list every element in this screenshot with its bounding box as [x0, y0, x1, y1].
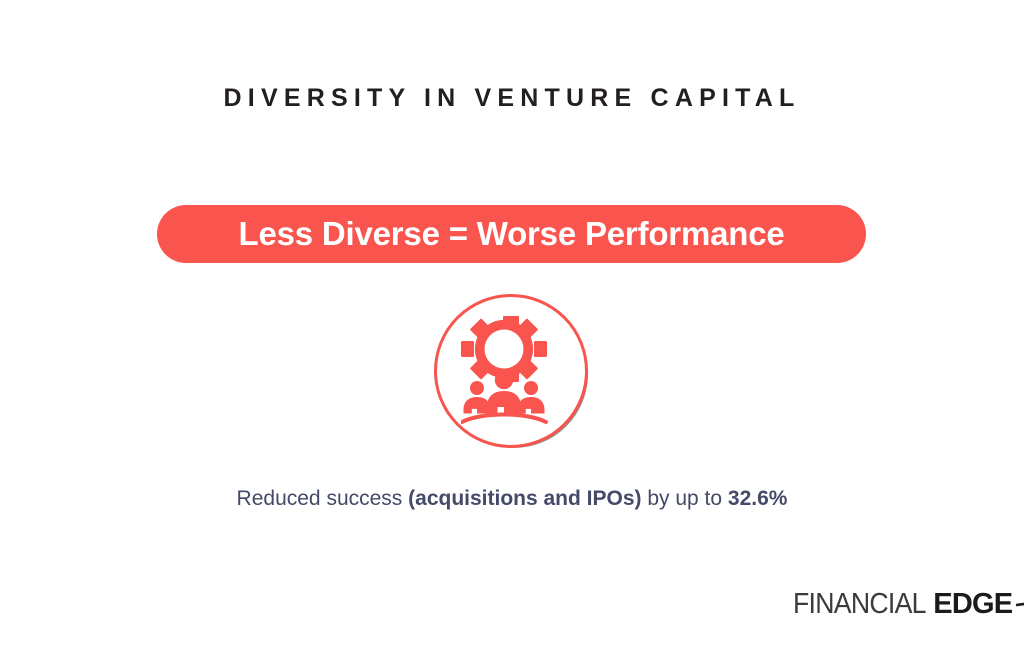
page-title: DIVERSITY IN VENTURE CAPITAL	[0, 84, 1024, 113]
brand-logo: FINANCIAL EDGE	[793, 585, 1024, 619]
brand-logo-edge: EDGE	[933, 590, 1012, 619]
icon-badge	[434, 294, 588, 448]
caption-part-1: Reduced success	[237, 487, 409, 510]
corner-bracket-icon	[1013, 587, 1024, 612]
caption-emphasis-2: 32.6%	[728, 487, 788, 510]
caption: Reduced success (acquisitions and IPOs) …	[0, 487, 1024, 511]
caption-part-2: by up to	[642, 487, 728, 510]
brand-logo-financial: FINANCIAL	[793, 590, 926, 619]
infographic-canvas: DIVERSITY IN VENTURE CAPITAL Less Divers…	[0, 0, 1024, 656]
headline-banner-label: Less Diverse = Worse Performance	[238, 215, 784, 253]
team-gear-icon	[461, 316, 561, 424]
headline-banner: Less Diverse = Worse Performance	[157, 205, 866, 263]
caption-emphasis-1: (acquisitions and IPOs)	[408, 487, 641, 510]
